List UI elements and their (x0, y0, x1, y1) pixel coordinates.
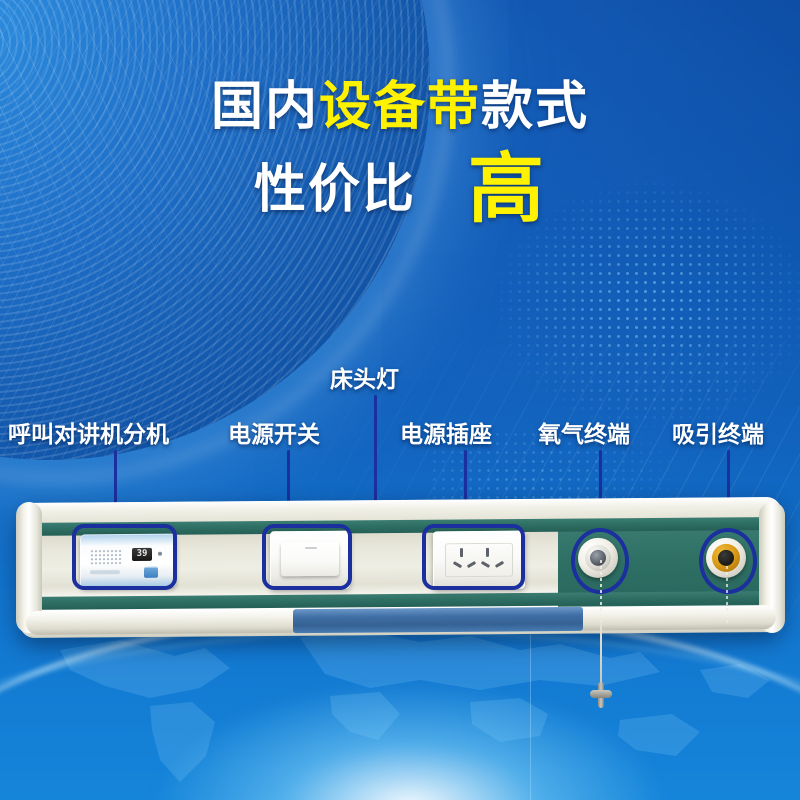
headline-line-2: 性价比高 (0, 149, 800, 229)
highlight-box-intercom (72, 524, 177, 590)
cord-cross-weight-icon (590, 682, 612, 708)
callout-label-oxygen-outlet: 氧气终端 (538, 415, 630, 449)
pull-cord (600, 622, 602, 690)
highlight-box-power-socket (422, 524, 525, 590)
world-map-outline-icon (0, 610, 800, 800)
headline-line2-part2: 高 (468, 144, 546, 233)
highlight-ellipse-suction (699, 528, 757, 594)
cord-secondary-segment (726, 566, 728, 624)
poster-canvas: 国内设备带款式 性价比高 呼叫对讲机分机 电源开关 床头灯 电源插座 氧气终端 … (0, 0, 800, 800)
callout-label-suction-outlet: 吸引终端 (672, 415, 764, 449)
headline-block: 国内设备带款式 性价比高 (0, 80, 800, 228)
headline-line1-part2: 设备带 (319, 77, 481, 137)
cord-upper-segment (600, 560, 602, 624)
callout-label-intercom: 呼叫对讲机分机 (8, 415, 169, 449)
callout-label-power-switch: 电源开关 (228, 415, 320, 449)
headline-line-1: 国内设备带款式 (0, 80, 800, 135)
highlight-box-power-switch (262, 524, 352, 590)
bed-lamp-diffuser (293, 607, 583, 633)
callout-label-power-socket: 电源插座 (400, 415, 492, 449)
headline-line1-part1: 国内 (211, 77, 319, 137)
light-arc-secondary-icon (0, 630, 800, 800)
headline-line1-part3: 款式 (481, 77, 589, 137)
callout-label-bed-lamp: 床头灯 (330, 360, 399, 394)
headline-line2-part1: 性价比 (254, 160, 416, 220)
light-arc-icon (0, 610, 800, 800)
